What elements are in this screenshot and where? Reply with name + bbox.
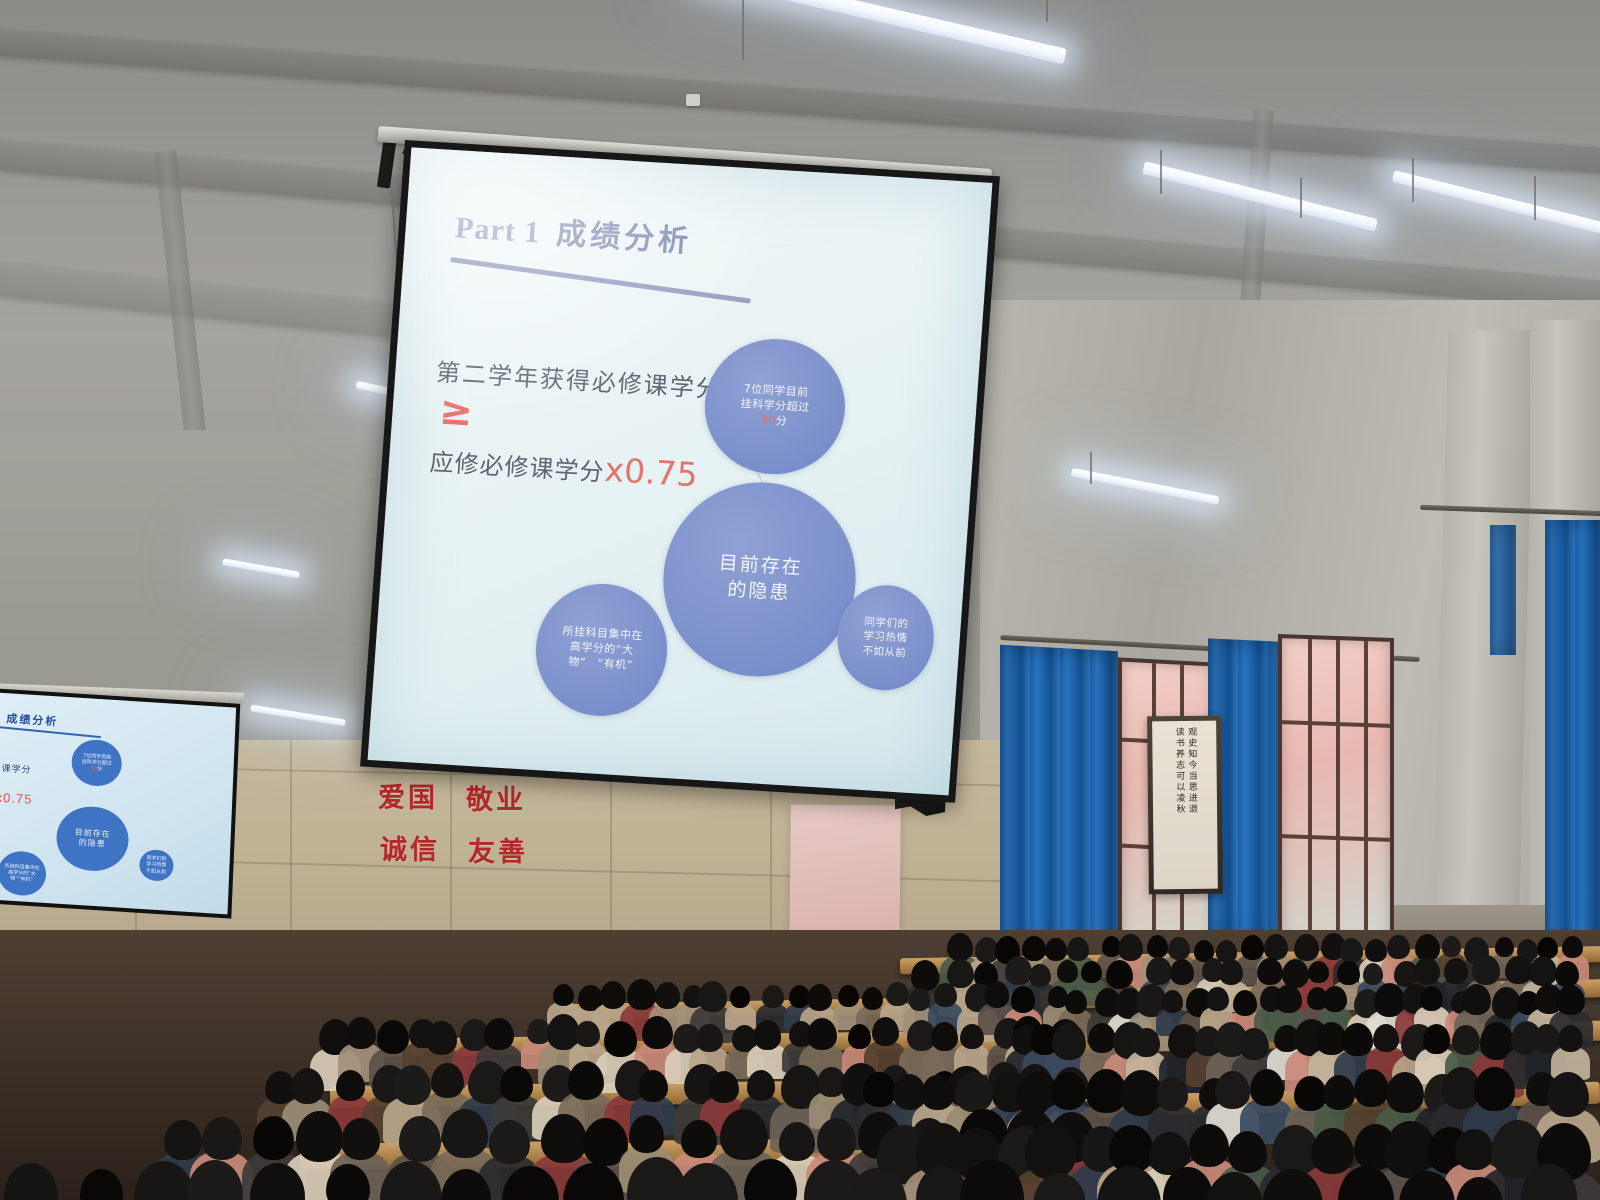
- audience-member-head: [1065, 990, 1087, 1014]
- audience-member-head: [807, 984, 832, 1011]
- side-formula-line-1: 得必修课学分: [0, 759, 32, 776]
- audience-member-head: [1472, 955, 1499, 984]
- audience-member-head: [202, 1117, 243, 1161]
- audience-member-head: [872, 1017, 899, 1046]
- audience-member-head: [489, 1120, 530, 1164]
- audience-member-head: [1250, 1069, 1285, 1106]
- audience-member-head: [696, 1024, 722, 1052]
- audience-member-head: [164, 1120, 202, 1161]
- audience-member-head: [1189, 1124, 1229, 1167]
- audience-member-head: [1005, 956, 1033, 986]
- audience-member-head: [1239, 1028, 1269, 1060]
- side-part-label: 1: [0, 711, 1, 724]
- audience-member-head: [638, 1070, 668, 1102]
- bubble-top-line2: 挂科学分超过: [740, 397, 810, 414]
- formula-line-2-value: x0.75: [603, 449, 699, 494]
- audience-member-head: [1444, 958, 1467, 983]
- window: [1278, 634, 1394, 946]
- audience-member-head: [762, 985, 783, 1008]
- light-hanger-wire: [1160, 150, 1162, 194]
- audience-member-head: [1363, 963, 1383, 985]
- audience-member-head: [863, 1072, 896, 1107]
- audience-member-head: [442, 1109, 487, 1158]
- audience-member-head: [1373, 1024, 1399, 1052]
- audience-member-head: [1029, 964, 1051, 987]
- audience-member-head: [341, 1118, 380, 1160]
- side-bubble-bottom-right: 同学们的学习热情不如从前: [138, 849, 174, 882]
- window-curtain[interactable]: [1545, 520, 1600, 950]
- audience-member-head: [1387, 935, 1410, 960]
- audience-member-head: [1337, 961, 1359, 985]
- audience-member-head: [1051, 1072, 1086, 1110]
- audience-member-head: [1474, 1067, 1514, 1110]
- audience-member-head: [960, 1024, 984, 1049]
- audience-member-head: [1308, 961, 1329, 983]
- audience-member-head: [291, 1068, 324, 1104]
- side-projection-screen[interactable]: 1 成绩分析 得必修课学分 修学分x0.75 7位同学目前挂科学分超过10分 目…: [0, 688, 240, 918]
- audience-member-head: [642, 1016, 673, 1049]
- bubble-center-line2: 的隐患: [727, 578, 791, 604]
- audience-member-head: [807, 1018, 837, 1050]
- audience-member-head: [1534, 1024, 1561, 1053]
- audience-member-head: [909, 988, 931, 1011]
- audience-member-head: [1462, 984, 1491, 1015]
- bubble-bl-line2: 高学分的“大: [569, 640, 634, 657]
- audience-member-head: [921, 1075, 954, 1110]
- bubble-top-unit: 分: [775, 414, 787, 428]
- audience-member-head: [1206, 987, 1228, 1011]
- audience-member-head: [1275, 985, 1301, 1013]
- audience-member-head: [627, 979, 655, 1009]
- audience-member-head: [431, 1063, 464, 1098]
- projection-screen[interactable]: Part 1 成绩分析 第二学年获得必修课学分 ≥ 应修必修课学分x0.75 7…: [360, 140, 1000, 803]
- audience-member-head: [1555, 961, 1579, 986]
- audience-member-head: [1455, 1129, 1494, 1171]
- audience-member-head: [955, 1072, 992, 1112]
- audience-member-head: [1323, 986, 1347, 1011]
- audience-member-head: [1241, 935, 1264, 960]
- audience-member-head: [346, 1017, 376, 1049]
- wall-slogan-jingye: 敬业: [466, 778, 526, 817]
- formula-line-2: 应修必修课学分x0.75: [429, 439, 711, 495]
- audience-member-head: [1022, 936, 1045, 961]
- slide-part-label: Part 1: [454, 211, 541, 250]
- tube-end-cap: [686, 94, 700, 106]
- wall-slogan-aiguo: 爱国: [378, 776, 438, 815]
- credit-formula: 第二学年获得必修课学分 ≥ 应修必修课学分x0.75: [429, 352, 717, 495]
- audience-member-head: [1423, 1024, 1451, 1054]
- audience-member-head: [1414, 957, 1440, 985]
- audience-member-head: [1045, 938, 1067, 961]
- side-br-line3: 不如从前: [146, 868, 166, 875]
- bubble-top-line1: 7位同学目前: [743, 382, 809, 399]
- audience-member-head: [1556, 985, 1585, 1016]
- audience-member-head: [747, 1070, 776, 1101]
- audience-member-head: [947, 959, 974, 988]
- audience-member-head: [1558, 1025, 1583, 1052]
- audience-member-head: [1294, 934, 1319, 961]
- presentation-slide: Part 1 成绩分析 第二学年获得必修课学分 ≥ 应修必修课学分x0.75 7…: [368, 147, 993, 795]
- audience-member-head: [296, 1111, 343, 1162]
- wall-pillar: [1432, 330, 1535, 970]
- audience-member-head: [336, 1070, 365, 1102]
- bubble-center: 目前存在 的隐患: [657, 477, 863, 682]
- light-hanger-wire: [1046, 0, 1048, 22]
- audience-member-head: [1011, 986, 1036, 1013]
- audience-member-head: [1057, 960, 1078, 983]
- audience-member-head: [817, 1118, 856, 1160]
- side-bubble-bottom-left: 所挂科目集中在高学分的“大物”“有机”: [0, 850, 47, 896]
- audience-member-head: [1156, 1077, 1188, 1111]
- audience-member-head: [911, 960, 940, 991]
- audience-member-head: [1233, 990, 1257, 1016]
- audience-member-head: [1495, 937, 1514, 957]
- calligraphy-column-right: 观史知今当思进退: [1186, 727, 1197, 883]
- side-bc-line2: 的隐患: [79, 838, 106, 849]
- formula-line-2-prefix: 应修必修课学分: [429, 448, 606, 487]
- light-hanger-wire: [1090, 452, 1092, 484]
- audience-member-head: [399, 1116, 441, 1162]
- audience-member-head: [947, 933, 973, 961]
- audience-member-head: [720, 1109, 767, 1160]
- audience-member-head: [426, 1021, 458, 1055]
- audience-member-head: [394, 1065, 431, 1105]
- audience-member-head: [886, 982, 908, 1006]
- audience-member-head: [1340, 938, 1363, 963]
- audience-member-head: [1106, 960, 1134, 990]
- slide-title: Part 1 成绩分析: [454, 202, 694, 260]
- light-hanger-wire: [742, 0, 744, 60]
- audience-member-head: [1264, 934, 1289, 961]
- audience-member-head: [862, 987, 883, 1010]
- side-bl-line3: 物”“有机”: [10, 876, 33, 883]
- audience-member-head: [1170, 959, 1194, 985]
- bubble-br-line3: 不如从前: [862, 644, 907, 659]
- window-curtain[interactable]: [1000, 645, 1118, 952]
- lecture-hall-photo: 公 爱国 敬业 诚信 友善 观史知今当思进退 读书养: [0, 0, 1600, 1200]
- audience-member-head: [681, 1120, 717, 1158]
- audience-member-head: [541, 1114, 586, 1163]
- calligraphy-column-left: 读书养志可以凌秋: [1173, 727, 1184, 883]
- audience-member-head: [1168, 937, 1189, 960]
- audience-member-head: [629, 1115, 665, 1153]
- audience-member-head: [1147, 935, 1168, 958]
- audience-member-head: [1365, 939, 1386, 962]
- audience-member-head: [1342, 1023, 1372, 1056]
- bubble-top: 7位同学目前 挂科学分超过 10分: [701, 335, 850, 478]
- side-bubble-top: 7位同学目前挂科学分超过10分: [71, 739, 123, 788]
- audience-member-head: [709, 1071, 739, 1103]
- audience-member-head: [600, 981, 626, 1009]
- calligraphy-scroll: 观史知今当思进退 读书养志可以凌秋: [1147, 716, 1223, 895]
- bubble-center-line1: 目前存在: [718, 552, 803, 579]
- side-slide-title: 1 成绩分析: [0, 709, 59, 729]
- bubble-br-line2: 学习热情: [863, 630, 908, 645]
- audience-member-head: [1257, 958, 1283, 986]
- light-hanger-wire: [1300, 178, 1302, 218]
- audience-member-head: [838, 985, 859, 1007]
- audience-member-head: [1025, 1123, 1077, 1179]
- audience-member-head: [1162, 990, 1183, 1013]
- title-underline: [450, 257, 750, 304]
- bubble-top-number: 10: [760, 413, 776, 427]
- window-curtain[interactable]: [1490, 525, 1516, 655]
- side-formula-line-2: 修学分x0.75: [0, 788, 33, 807]
- audience-member-head: [1081, 961, 1102, 983]
- audience-member-head: [553, 984, 574, 1007]
- audience-member-head: [730, 986, 750, 1008]
- bubble-bottom-left: 所挂科目集中在 高学分的“大 物” “有机”: [532, 580, 672, 720]
- audience-member-head: [1386, 1072, 1424, 1113]
- audience-member-head: [1547, 1072, 1589, 1117]
- audience-member-head: [1228, 1131, 1267, 1173]
- light-hanger-wire: [1534, 176, 1536, 220]
- audience-member-head: [1354, 1069, 1389, 1107]
- audience-member-head: [1420, 986, 1443, 1011]
- audience-member-head: [1219, 959, 1243, 985]
- audience-member-head: [985, 981, 1010, 1008]
- slide-heading: 成绩分析: [555, 209, 694, 261]
- audience-member-head: [500, 1066, 533, 1102]
- bubble-bl-line3: 物” “有机”: [568, 655, 633, 672]
- audience-member-head: [1133, 1028, 1159, 1056]
- audience-member-head: [934, 983, 957, 1007]
- light-hanger-wire: [1412, 158, 1414, 202]
- audience-member-head: [754, 1020, 781, 1049]
- side-formula-value: x0.75: [0, 790, 33, 807]
- audience-member-head: [1088, 1023, 1116, 1053]
- audience-member-head: [1452, 1025, 1480, 1055]
- bubble-br-line1: 同学们的: [864, 616, 909, 631]
- audience-member-head: [655, 982, 680, 1009]
- wall-slogan-youshan: 友善: [468, 830, 528, 869]
- audience-member-head: [1505, 956, 1531, 984]
- audience-member-head: [779, 1122, 815, 1161]
- audience-member-head: [698, 981, 727, 1012]
- audience-member-head: [1562, 936, 1583, 959]
- side-heading: 成绩分析: [6, 710, 59, 729]
- side-bt-unit: 分: [97, 766, 102, 772]
- audience-member-head: [1146, 957, 1171, 984]
- wall-slogan-chengxin: 诚信: [380, 828, 440, 867]
- audience-member-head: [1442, 936, 1461, 956]
- audience-member-head: [1118, 934, 1144, 961]
- audience-member-head: [1215, 1071, 1250, 1108]
- audience-member-head: [253, 1116, 294, 1160]
- audience-member-head: [931, 1022, 959, 1052]
- side-bubble-center: 目前存在的隐患: [55, 804, 129, 873]
